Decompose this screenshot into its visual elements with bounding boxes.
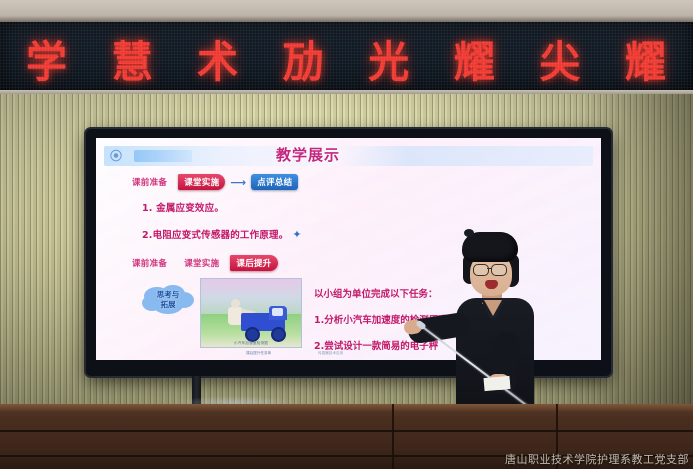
led-char-4: 劢: [283, 26, 324, 90]
truck-wheel-rear: [271, 327, 286, 342]
presenter-glasses-bridge: [487, 268, 492, 269]
star-icon: ✦: [292, 229, 301, 240]
led-char-1: 学: [26, 26, 67, 90]
led-char-7: 尖: [539, 26, 580, 90]
truck-window: [272, 308, 283, 316]
slide-footnote-right: 传感器技术应用: [318, 351, 343, 356]
screenshot-root: 学 慧 术 劢 光 耀 尖 耀 ⦿ 教学展示 课前准备 课堂实施: [0, 0, 693, 469]
led-char-5: 光: [368, 26, 409, 90]
tab-kqzb-1[interactable]: 课前准备: [126, 174, 173, 190]
tab-ktss-2[interactable]: 课堂实施: [178, 255, 225, 271]
presenter-paper: [483, 376, 510, 391]
logo-wordmark: [134, 150, 192, 162]
cloud-label-line-2: 拓展: [161, 300, 176, 309]
presenter-glasses-left: [473, 264, 489, 276]
wood-panel-highlight: [0, 404, 693, 412]
slide-tabs-row-1: 课前准备 课堂实施 ⟶ 点评总结: [126, 174, 298, 190]
bullet-text-2: 2.电阻应变式传感器的工作原理。: [142, 227, 288, 241]
slide-title: 教学展示: [276, 144, 340, 165]
tab-dpzj-1[interactable]: 点评总结: [251, 174, 298, 190]
led-banner-text: 学 慧 术 劢 光 耀 尖 耀: [26, 26, 666, 90]
presenter-figure: [430, 232, 550, 432]
watermark-text: 唐山职业技术学院护理系教工党支部: [505, 451, 689, 467]
cloud-label-line-1: 思考与: [157, 290, 180, 299]
led-char-8: 耀: [625, 26, 666, 90]
bullet-item-2: 2.电阻应变式传感器的工作原理。 ✦: [142, 227, 302, 241]
cloud-label: 思考与 拓展: [140, 283, 196, 316]
slide-bullet-list: 1. 金属应变效应。 2.电阻应变式传感器的工作原理。 ✦: [142, 200, 302, 254]
thought-cloud-badge: 思考与 拓展: [140, 283, 196, 316]
truck-wheel-front: [245, 327, 260, 342]
tab-ktss-1[interactable]: 课堂实施: [178, 174, 225, 190]
slide-thumbnail-image: 小汽车加速度检测图: [200, 278, 302, 348]
tab-khts-2[interactable]: 课后提升: [230, 255, 277, 271]
bullet-item-1: 1. 金属应变效应。: [142, 200, 302, 214]
slide-tabs-row-2: 课前准备 课堂实施 课后提升: [126, 255, 278, 271]
swirl-logo-icon: ⦿: [110, 148, 132, 164]
figure-head: [231, 299, 240, 308]
bullet-text-1: 1. 金属应变效应。: [142, 200, 224, 214]
presenter-beret-nub: [464, 229, 474, 237]
wood-line-1: [0, 430, 693, 432]
led-banner: 学 慧 术 劢 光 耀 尖 耀: [0, 22, 693, 94]
arrow-right-icon: ⟶: [230, 177, 246, 188]
thumbnail-caption: 小汽车加速度检测图: [201, 341, 301, 346]
wood-seam-1: [392, 404, 394, 469]
led-char-6: 耀: [454, 26, 495, 90]
led-char-2: 慧: [112, 26, 153, 90]
led-char-3: 术: [197, 26, 238, 90]
presenter-glasses-right: [491, 264, 507, 276]
tab-kqzb-2[interactable]: 课前准备: [126, 255, 173, 271]
slide-footnote-left: 课后提升任务单: [246, 351, 271, 356]
